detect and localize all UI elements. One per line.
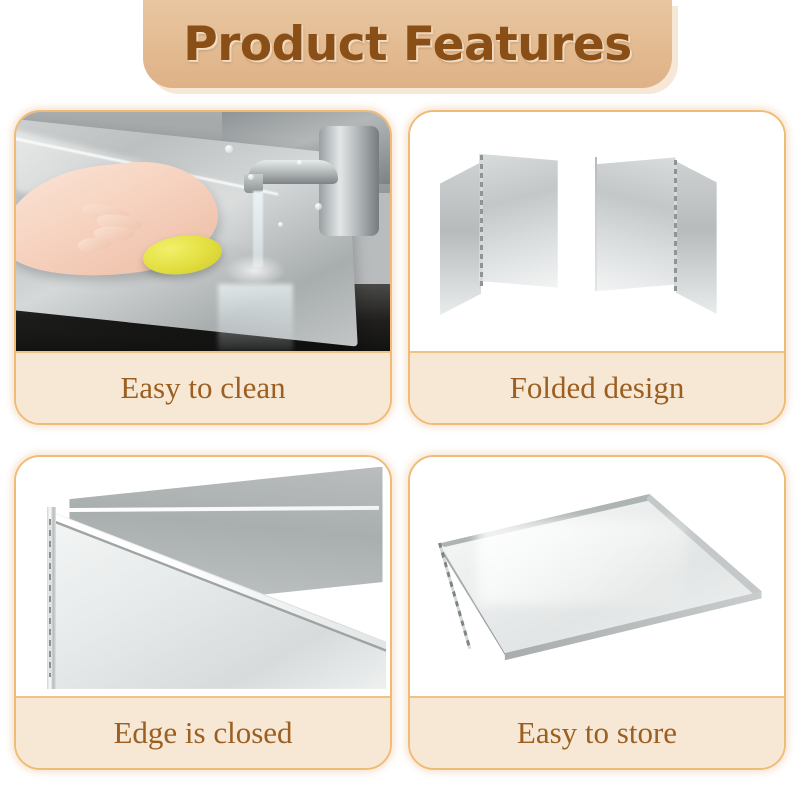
- page-title: Product Features: [183, 17, 631, 72]
- sink-photo-illustration: [16, 112, 390, 351]
- feature-caption-easy-to-clean: Easy to clean: [16, 351, 390, 423]
- caption-text: Easy to store: [517, 715, 677, 751]
- feature-image-edge-is-closed: [16, 457, 390, 696]
- panel-hinge-rivets: [49, 519, 51, 677]
- guard-panel-left-wing: [440, 162, 481, 315]
- water-droplet: [297, 160, 302, 165]
- guard-panel-right-wing: [676, 161, 717, 314]
- feature-caption-edge-is-closed: Edge is closed: [16, 696, 390, 768]
- feature-card-grid: Easy to clean Folded design: [14, 110, 786, 770]
- guard-hinge-left: [480, 155, 483, 286]
- water-droplet: [315, 203, 322, 210]
- feature-image-easy-to-store: [410, 457, 784, 696]
- title-banner: Product Features: [143, 0, 672, 96]
- product-features-infographic: Product Features: [0, 0, 800, 800]
- title-banner-body: Product Features: [143, 0, 672, 88]
- feature-image-folded-design: [410, 112, 784, 351]
- feature-caption-folded-design: Folded design: [410, 351, 784, 423]
- finger: [77, 236, 113, 252]
- guard-panel-left-main: [479, 154, 558, 288]
- caption-text: Folded design: [510, 370, 685, 406]
- guard-panel-right-main: [597, 157, 676, 291]
- feature-card-easy-to-clean[interactable]: Easy to clean: [14, 110, 392, 425]
- splatter-guard-standing-illustration: [410, 112, 784, 351]
- feature-card-easy-to-store[interactable]: Easy to store: [408, 455, 786, 770]
- guard-center-seam: [595, 157, 597, 291]
- caption-text: Easy to clean: [120, 370, 285, 406]
- guard-hinge-right: [674, 160, 677, 291]
- water-runoff: [218, 284, 293, 351]
- folded-flat-guard-illustration: [410, 457, 784, 696]
- feature-card-folded-design[interactable]: Folded design: [408, 110, 786, 425]
- water-droplet: [278, 222, 283, 227]
- closed-edge-macro-illustration: [16, 457, 390, 696]
- feature-caption-easy-to-store: Easy to store: [410, 696, 784, 768]
- plate-sheen: [477, 519, 686, 605]
- feature-image-easy-to-clean: [16, 112, 390, 351]
- water-droplet: [248, 174, 254, 180]
- feature-card-edge-is-closed[interactable]: Edge is closed: [14, 455, 392, 770]
- caption-text: Edge is closed: [113, 715, 292, 751]
